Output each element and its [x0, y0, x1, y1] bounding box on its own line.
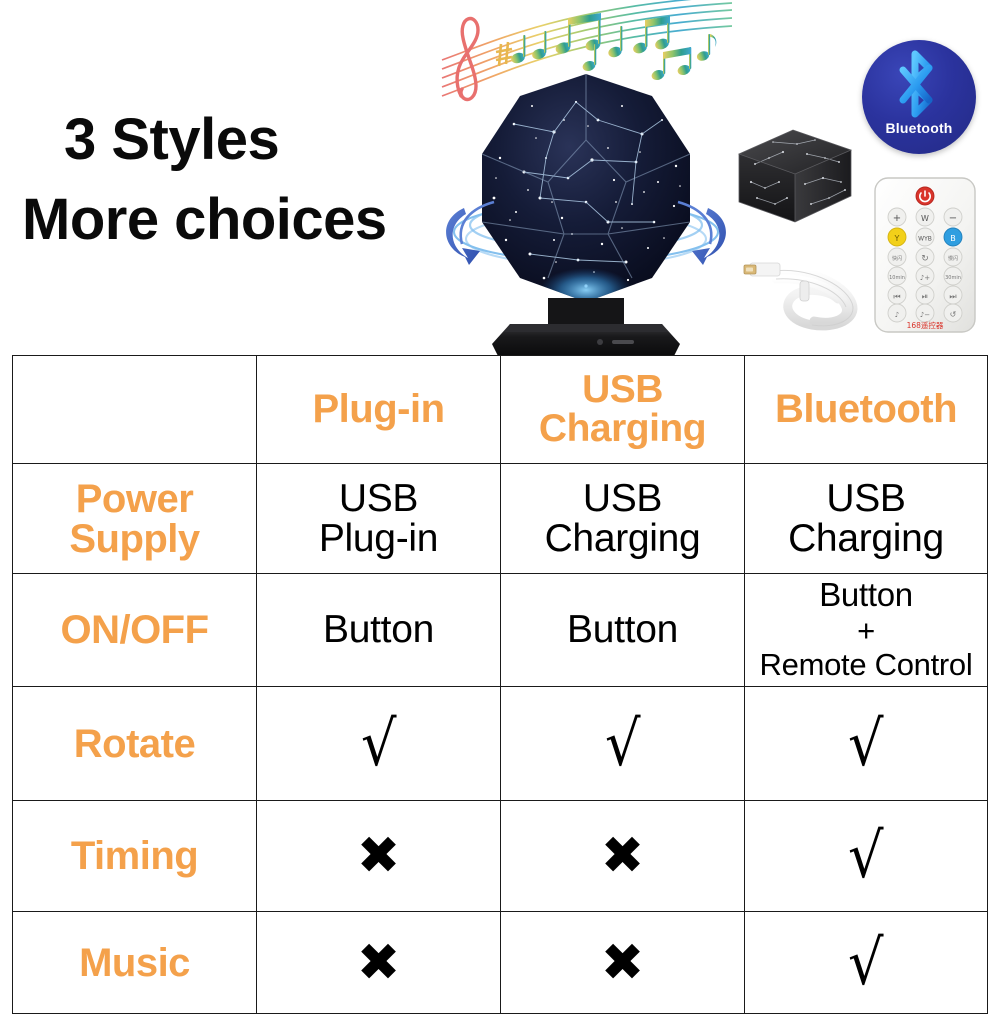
- svg-text:30min: 30min: [945, 275, 961, 281]
- table-row-on-off: ON/OFF Button Button Button + Remote Con…: [13, 574, 988, 687]
- cell-rotate-plug-in: √: [257, 687, 501, 801]
- cross-icon: ✖: [601, 830, 645, 882]
- cell-rotate-bluetooth: √: [745, 687, 988, 801]
- svg-text:♪+: ♪+: [920, 274, 930, 282]
- svg-text:168遥控器: 168遥控器: [907, 320, 944, 330]
- cell-music-usb-charging: ✖: [501, 912, 745, 1014]
- svg-text:⏮: ⏮: [893, 292, 900, 301]
- cell-text: Charging: [788, 517, 944, 560]
- cell-text: Plug-in: [319, 517, 438, 560]
- cell-text: Button: [819, 576, 913, 613]
- table-row-timing: Timing ✖ ✖ √: [13, 801, 988, 912]
- cross-icon: ✖: [357, 830, 401, 882]
- svg-text:Y: Y: [894, 234, 900, 243]
- cell-text: Button: [323, 608, 434, 651]
- cell-on-off-bluetooth: Button + Remote Control: [745, 574, 988, 687]
- table-row-rotate: Rotate √ √ √: [13, 687, 988, 801]
- cell-text: Remote Control: [760, 647, 973, 682]
- svg-text:♪−: ♪−: [920, 311, 930, 319]
- row-label-power-supply-line2: Supply: [69, 517, 199, 561]
- star-projector-lamp-image: [436, 62, 736, 355]
- row-label-timing-text: Timing: [71, 834, 198, 878]
- cell-music-plug-in: ✖: [257, 912, 501, 1014]
- svg-text:W: W: [921, 214, 929, 223]
- header-cell-plug-in: Plug-in: [257, 356, 501, 464]
- cell-on-off-usb-charging: Button: [501, 574, 745, 687]
- cell-timing-bluetooth: √: [745, 801, 988, 912]
- header-usb-charging-line2: Charging: [539, 407, 706, 450]
- header-cell-blank: [13, 356, 257, 464]
- check-icon: √: [605, 713, 641, 775]
- headline-line-1: 3 Styles: [64, 106, 279, 173]
- cell-power-supply-plug-in: USB Plug-in: [257, 464, 501, 574]
- product-comparison-image: 3 Styles More choices: [0, 0, 1000, 1000]
- cell-timing-usb-charging: ✖: [501, 801, 745, 912]
- header-bluetooth-label: Bluetooth: [775, 387, 957, 431]
- svg-text:♪: ♪: [895, 311, 899, 319]
- svg-text:↻: ↻: [921, 254, 929, 264]
- cell-text: USB: [826, 477, 905, 520]
- row-label-music-text: Music: [79, 941, 190, 985]
- header-cell-bluetooth: Bluetooth: [745, 356, 988, 464]
- gift-box-image: [735, 124, 855, 228]
- cell-power-supply-usb-charging: USB Charging: [501, 464, 745, 574]
- row-label-rotate-text: Rotate: [74, 722, 195, 766]
- usb-cable-image: [740, 245, 880, 335]
- row-label-on-off-text: ON/OFF: [60, 608, 208, 652]
- hero-product-banner: 3 Styles More choices: [0, 0, 1000, 355]
- cell-text: USB: [583, 477, 662, 520]
- header-plug-in-label: Plug-in: [312, 387, 444, 431]
- cell-on-off-plug-in: Button: [257, 574, 501, 687]
- header-cell-usb-charging: USB Charging: [501, 356, 745, 464]
- check-icon: √: [848, 825, 884, 887]
- table-header-row: Plug-in USB Charging Bluetooth: [13, 356, 988, 464]
- row-label-timing: Timing: [13, 801, 257, 912]
- row-label-on-off: ON/OFF: [13, 574, 257, 687]
- cell-text: +: [857, 613, 875, 648]
- cell-text: Button: [567, 608, 678, 651]
- header-usb-charging-line1: USB: [582, 368, 663, 411]
- row-label-power-supply: Power Supply: [13, 464, 257, 574]
- svg-text:WYB: WYB: [918, 236, 932, 243]
- bluetooth-icon: [891, 50, 947, 118]
- svg-text:−: −: [949, 213, 957, 224]
- cell-rotate-usb-charging: √: [501, 687, 745, 801]
- headline-line-2: More choices: [22, 186, 387, 253]
- cross-icon: ✖: [601, 937, 645, 989]
- row-label-music: Music: [13, 912, 257, 1014]
- svg-text:↺: ↺: [950, 310, 957, 319]
- svg-text:⏯: ⏯: [922, 292, 928, 301]
- cell-text: USB: [339, 477, 418, 520]
- svg-text:慢闪: 慢闪: [948, 255, 958, 262]
- svg-text:10min: 10min: [889, 275, 905, 281]
- table-row-music: Music ✖ ✖ √: [13, 912, 988, 1014]
- cell-power-supply-bluetooth: USB Charging: [745, 464, 988, 574]
- check-icon: √: [361, 713, 397, 775]
- svg-text:B: B: [950, 234, 956, 243]
- cell-timing-plug-in: ✖: [257, 801, 501, 912]
- svg-text:快闪: 快闪: [892, 255, 902, 262]
- svg-text:⏭: ⏭: [949, 292, 956, 301]
- row-label-power-supply-line1: Power: [76, 477, 194, 521]
- check-icon: √: [848, 932, 884, 994]
- check-icon: √: [848, 713, 884, 775]
- feature-comparison-table: Plug-in USB Charging Bluetooth Power: [12, 355, 988, 1014]
- bluetooth-badge-label: Bluetooth: [862, 120, 976, 136]
- cell-text: Charging: [545, 517, 701, 560]
- svg-text:+: +: [893, 213, 901, 224]
- remote-control-image: + W − Y WYB B 快闪 ↻: [872, 176, 978, 334]
- cell-music-bluetooth: √: [745, 912, 988, 1014]
- bluetooth-badge: Bluetooth: [862, 40, 976, 154]
- row-label-rotate: Rotate: [13, 687, 257, 801]
- table-row-power-supply: Power Supply USB Plug-in USB Charging: [13, 464, 988, 574]
- cross-icon: ✖: [357, 937, 401, 989]
